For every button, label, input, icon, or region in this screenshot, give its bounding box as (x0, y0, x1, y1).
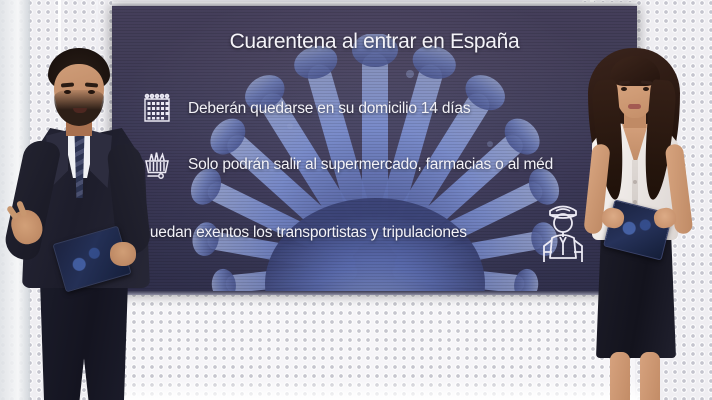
male-presenter-eye-left (64, 90, 71, 94)
slide-bullet-text: Quedan exentos los transportistas y trip… (138, 224, 467, 242)
screenshot-frame: Cuarentena al entrar en España (0, 0, 712, 400)
male-presenter-eye-right (88, 90, 95, 94)
slide-bullet-text: Deberán quedarse en su domicilio 14 días (188, 100, 470, 118)
male-presenter-trousers (36, 276, 132, 400)
video-wall-screen: Cuarentena al entrar en España (112, 6, 637, 294)
male-presenter-hand-holding (110, 242, 136, 266)
studio-floor-glow (95, 378, 640, 400)
female-presenter-eye-left (621, 87, 627, 91)
female-presenter-eye-right (643, 87, 649, 91)
slide-bullet-list: Deberán quedarse en su domicilio 14 días (112, 6, 637, 294)
slide-bullet-item: Quedan exentos los transportistas y trip… (138, 224, 467, 242)
female-presenter-leg-right (640, 352, 660, 400)
slide-bullet-item: Deberán quedarse en su domicilio 14 días (138, 90, 470, 128)
female-presenter-button (633, 180, 637, 184)
female-presenter (562, 40, 702, 400)
male-presenter (6, 48, 166, 400)
female-presenter-leg-left (610, 352, 630, 400)
female-presenter-mouth (628, 104, 641, 109)
slide-bullet-text: Solo podrán salir al supermercado, farma… (188, 156, 553, 174)
slide-bullet-item: Solo podrán salir al supermercado, farma… (138, 146, 553, 184)
